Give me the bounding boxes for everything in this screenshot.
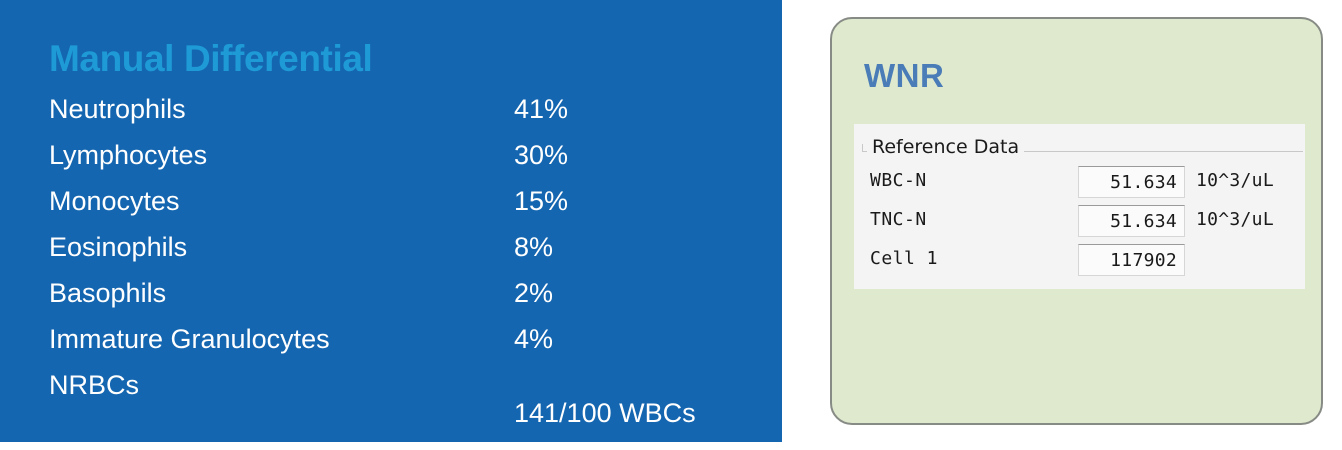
differential-value: 15% [514, 184, 568, 218]
wnr-title: WNR [864, 57, 944, 95]
differential-row-immature-granulocytes: Immature Granulocytes 4% [49, 322, 749, 368]
reference-label: Cell 1 [870, 248, 938, 269]
differential-label: Eosinophils [49, 230, 187, 264]
differential-value: 141/100 WBCs [514, 396, 696, 430]
differential-label: Basophils [49, 276, 166, 310]
differential-row-basophils: Basophils 2% [49, 276, 749, 322]
reference-data-groupbox: Reference Data WBC-N 51.634 10^3/uL TNC-… [854, 124, 1305, 289]
manual-differential-title: Manual Differential [49, 38, 372, 80]
differential-row-nrbcs: NRBCs 141/100 WBCs [49, 368, 749, 414]
differential-label: Monocytes [49, 184, 180, 218]
wnr-panel: WNR Reference Data WBC-N 51.634 10^3/uL … [830, 17, 1323, 425]
differential-label: Neutrophils [49, 92, 186, 126]
differential-value: 41% [514, 92, 568, 126]
differential-label: Immature Granulocytes [49, 322, 330, 356]
differential-label: NRBCs [49, 368, 139, 402]
differential-value: 4% [514, 322, 553, 356]
differential-value: 8% [514, 230, 553, 264]
reference-unit: 10^3/uL [1196, 170, 1274, 191]
differential-row-neutrophils: Neutrophils 41% [49, 92, 749, 138]
reference-value-field[interactable]: 51.634 [1078, 166, 1185, 198]
reference-value-field[interactable]: 51.634 [1078, 205, 1185, 237]
reference-label: WBC-N [870, 170, 927, 191]
differential-list: Neutrophils 41% Lymphocytes 30% Monocyte… [49, 92, 749, 414]
differential-value: 2% [514, 276, 553, 310]
differential-label: Lymphocytes [49, 138, 207, 172]
reference-row-tnc-n: TNC-N 51.634 10^3/uL [854, 205, 1305, 243]
reference-label: TNC-N [870, 209, 927, 230]
groupbox-frame-tick [862, 144, 863, 152]
reference-value-field[interactable]: 117902 [1078, 244, 1185, 276]
differential-row-monocytes: Monocytes 15% [49, 184, 749, 230]
reference-data-legend: Reference Data [867, 136, 1024, 158]
manual-differential-panel: Manual Differential Neutrophils 41% Lymp… [0, 0, 782, 442]
differential-value: 30% [514, 138, 568, 172]
differential-row-eosinophils: Eosinophils 8% [49, 230, 749, 276]
differential-row-lymphocytes: Lymphocytes 30% [49, 138, 749, 184]
reference-row-cell-1: Cell 1 117902 [854, 244, 1305, 282]
reference-unit: 10^3/uL [1196, 209, 1274, 230]
reference-row-wbc-n: WBC-N 51.634 10^3/uL [854, 166, 1305, 204]
